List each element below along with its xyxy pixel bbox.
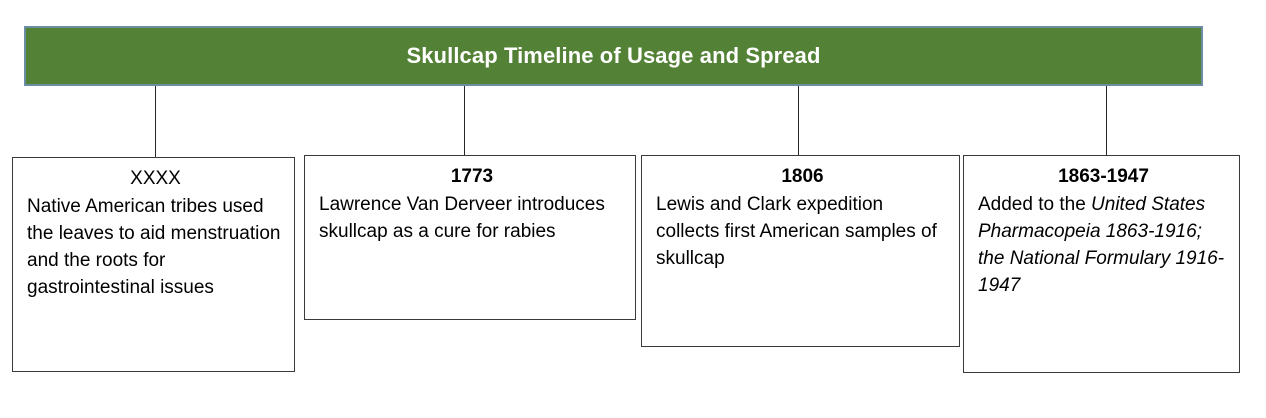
timeline-header-banner: Skullcap Timeline of Usage and Spread [24,26,1203,86]
event-year-2: 1773 [319,164,625,191]
event-description-4: Added to the United States Pharmacopeia … [978,192,1229,300]
timeline-title: Skullcap Timeline of Usage and Spread [406,44,820,68]
event-description-3: Lewis and Clark expedition collects firs… [656,192,949,273]
connector-line-4 [1106,86,1107,156]
event-description-1: Native American tribes used the leaves t… [27,194,284,302]
timeline-event-box-2: 1773 Lawrence Van Derveer introduces sku… [304,155,636,320]
event-description-4-plain: Added to the [978,194,1091,215]
connector-line-1 [155,86,156,158]
timeline-event-box-1: XXXX Native American tribes used the lea… [12,157,295,372]
timeline-event-box-4: 1863-1947 Added to the United States Pha… [963,155,1240,373]
timeline-diagram: Skullcap Timeline of Usage and Spread XX… [0,0,1266,418]
connector-line-3 [798,86,799,156]
event-year-1: XXXX [27,166,284,193]
event-description-2: Lawrence Van Derveer introduces skullcap… [319,192,625,246]
connector-line-2 [464,86,465,158]
event-year-4: 1863-1947 [978,164,1229,191]
timeline-event-box-3: 1806 Lewis and Clark expedition collects… [641,155,960,347]
event-year-3: 1806 [656,164,949,191]
